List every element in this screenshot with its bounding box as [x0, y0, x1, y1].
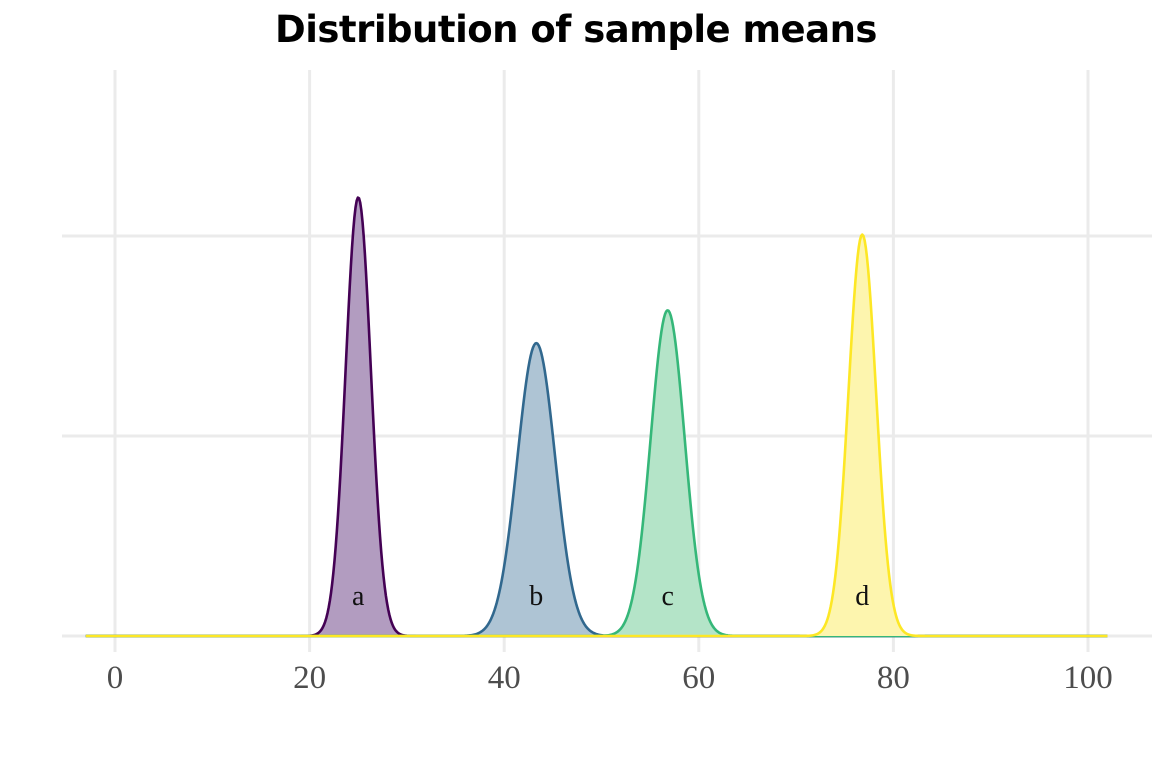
density-plot-svg [0, 0, 1152, 768]
density-area-a [86, 198, 1108, 636]
density-outline-c [86, 310, 1108, 636]
chart-figure: Distribution of sample means 02040608010… [0, 0, 1152, 768]
density-curves-layer [86, 198, 1108, 636]
density-area-c [86, 310, 1108, 636]
x-tick-label: 60 [682, 660, 715, 697]
x-tick-label: 100 [1063, 660, 1113, 697]
plot-area: 020406080100 abcd [0, 0, 1152, 768]
density-outline-b [86, 343, 1108, 636]
x-tick-label: 20 [293, 660, 326, 697]
x-tick-label: 80 [877, 660, 910, 697]
x-tick-label: 40 [488, 660, 521, 697]
grid-layer [62, 70, 1152, 652]
x-tick-label: 0 [107, 660, 124, 697]
density-area-b [86, 343, 1108, 636]
density-outline-a [86, 198, 1108, 636]
